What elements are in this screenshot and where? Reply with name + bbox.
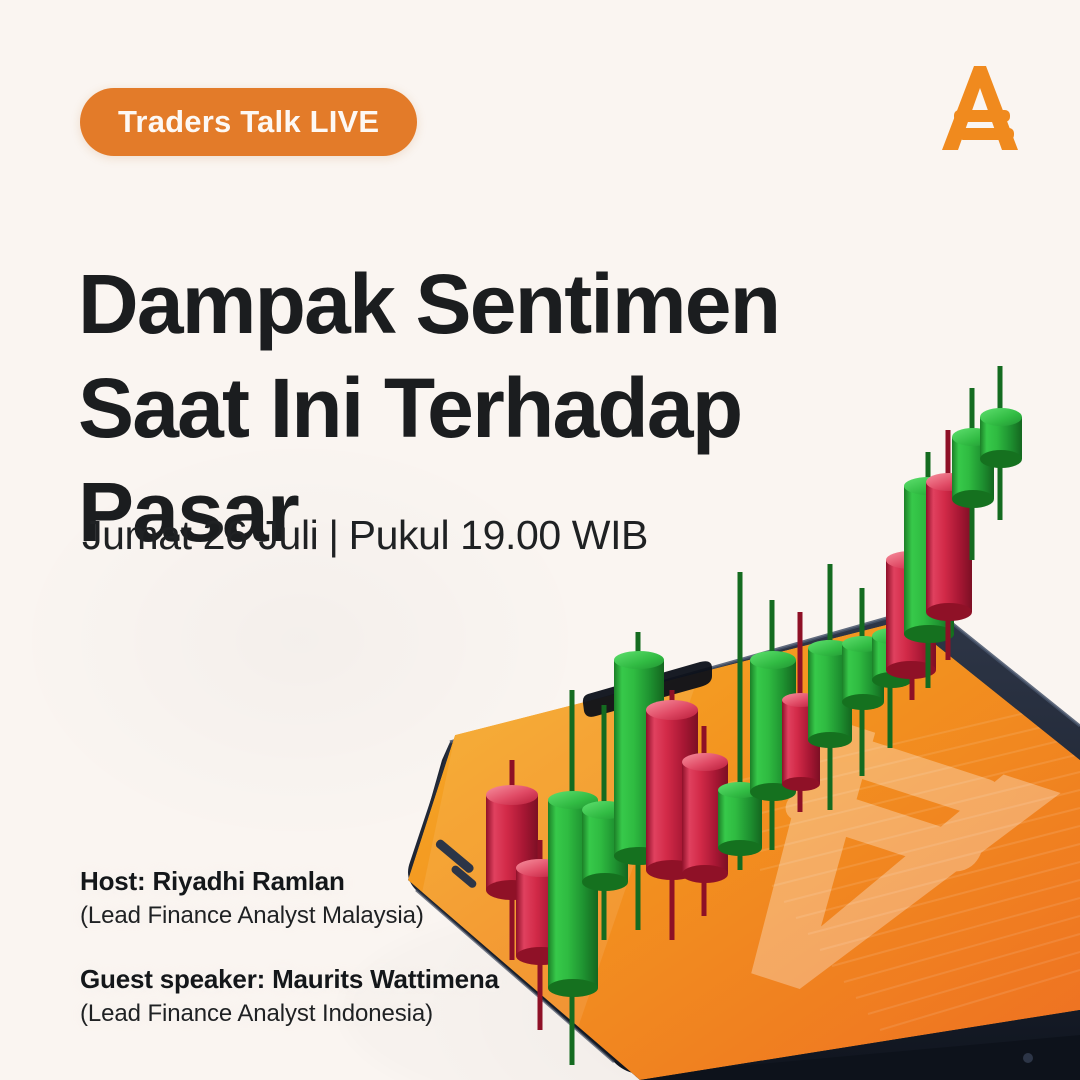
host-name: Host: Riyadhi Ramlan — [80, 866, 499, 897]
guest-name: Guest speaker: Maurits Wattimena — [80, 964, 499, 995]
credits-list: Host: Riyadhi Ramlan (Lead Finance Analy… — [80, 866, 499, 1062]
schedule-time: Pukul 19.00 WIB — [349, 512, 648, 558]
guest-role: (Lead Finance Analyst Indonesia) — [80, 1000, 499, 1028]
schedule-date: Jumat 26 Juli — [82, 512, 318, 558]
schedule-line: Jumat 26 Juli|Pukul 19.00 WIB — [82, 512, 648, 559]
a-logo-watermark-icon — [663, 714, 1061, 1023]
credit-host: Host: Riyadhi Ramlan (Lead Finance Analy… — [80, 866, 499, 930]
schedule-separator: | — [318, 512, 348, 559]
credit-guest: Guest speaker: Maurits Wattimena (Lead F… — [80, 964, 499, 1028]
headline-line-2: Saat Ini Terhadap — [78, 356, 838, 460]
headline-line-1: Dampak Sentimen — [78, 252, 838, 356]
smartphone-device — [408, 610, 1080, 1080]
live-badge-label: Traders Talk LIVE — [118, 104, 379, 140]
promo-poster: Traders Talk LIVE Dampak Sentimen Saat I… — [0, 0, 1080, 1080]
host-role: (Lead Finance Analyst Malaysia) — [80, 902, 499, 930]
live-badge: Traders Talk LIVE — [80, 88, 417, 156]
brand-a-logo-icon — [930, 58, 1030, 158]
